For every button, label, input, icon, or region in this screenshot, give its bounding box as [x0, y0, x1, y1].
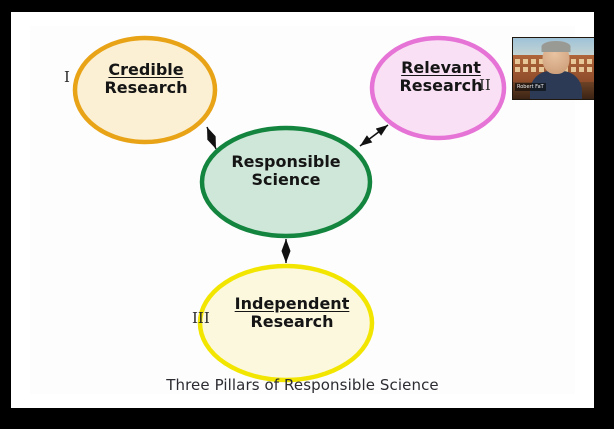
webcam-person-hair [542, 41, 571, 52]
node-credible-numeral: I [64, 68, 70, 86]
node-credible-line2: Research [83, 79, 209, 97]
node-independent-numeral: III [192, 309, 210, 327]
webcam-thumbnail[interactable]: Robert FaT [512, 37, 594, 100]
node-independent-line2: Research [219, 313, 365, 331]
node-responsible-line2: Science [211, 171, 361, 189]
node-relevant-line1: Relevant [382, 59, 500, 77]
node-independent-line1: Independent [219, 295, 365, 313]
node-relevant-label: Relevant Research [382, 59, 500, 95]
node-independent-label: Independent Research [219, 295, 365, 331]
node-credible-label: Credible Research [83, 61, 209, 97]
node-responsible-line1: Responsible [211, 153, 361, 171]
connector-responsible-relevant [360, 125, 388, 146]
node-responsible-label: Responsible Science [211, 153, 361, 189]
shared-slide: I Credible Research II Relevant Research… [11, 12, 594, 408]
node-credible-line1: Credible [83, 61, 209, 79]
node-relevant-line2: Research [382, 77, 500, 95]
slide-caption: Three Pillars of Responsible Science [11, 376, 594, 394]
webcam-participant-name: Robert FaT [515, 83, 546, 91]
video-frame: I Credible Research II Relevant Research… [0, 0, 614, 429]
connector-credible-responsible [207, 127, 216, 149]
